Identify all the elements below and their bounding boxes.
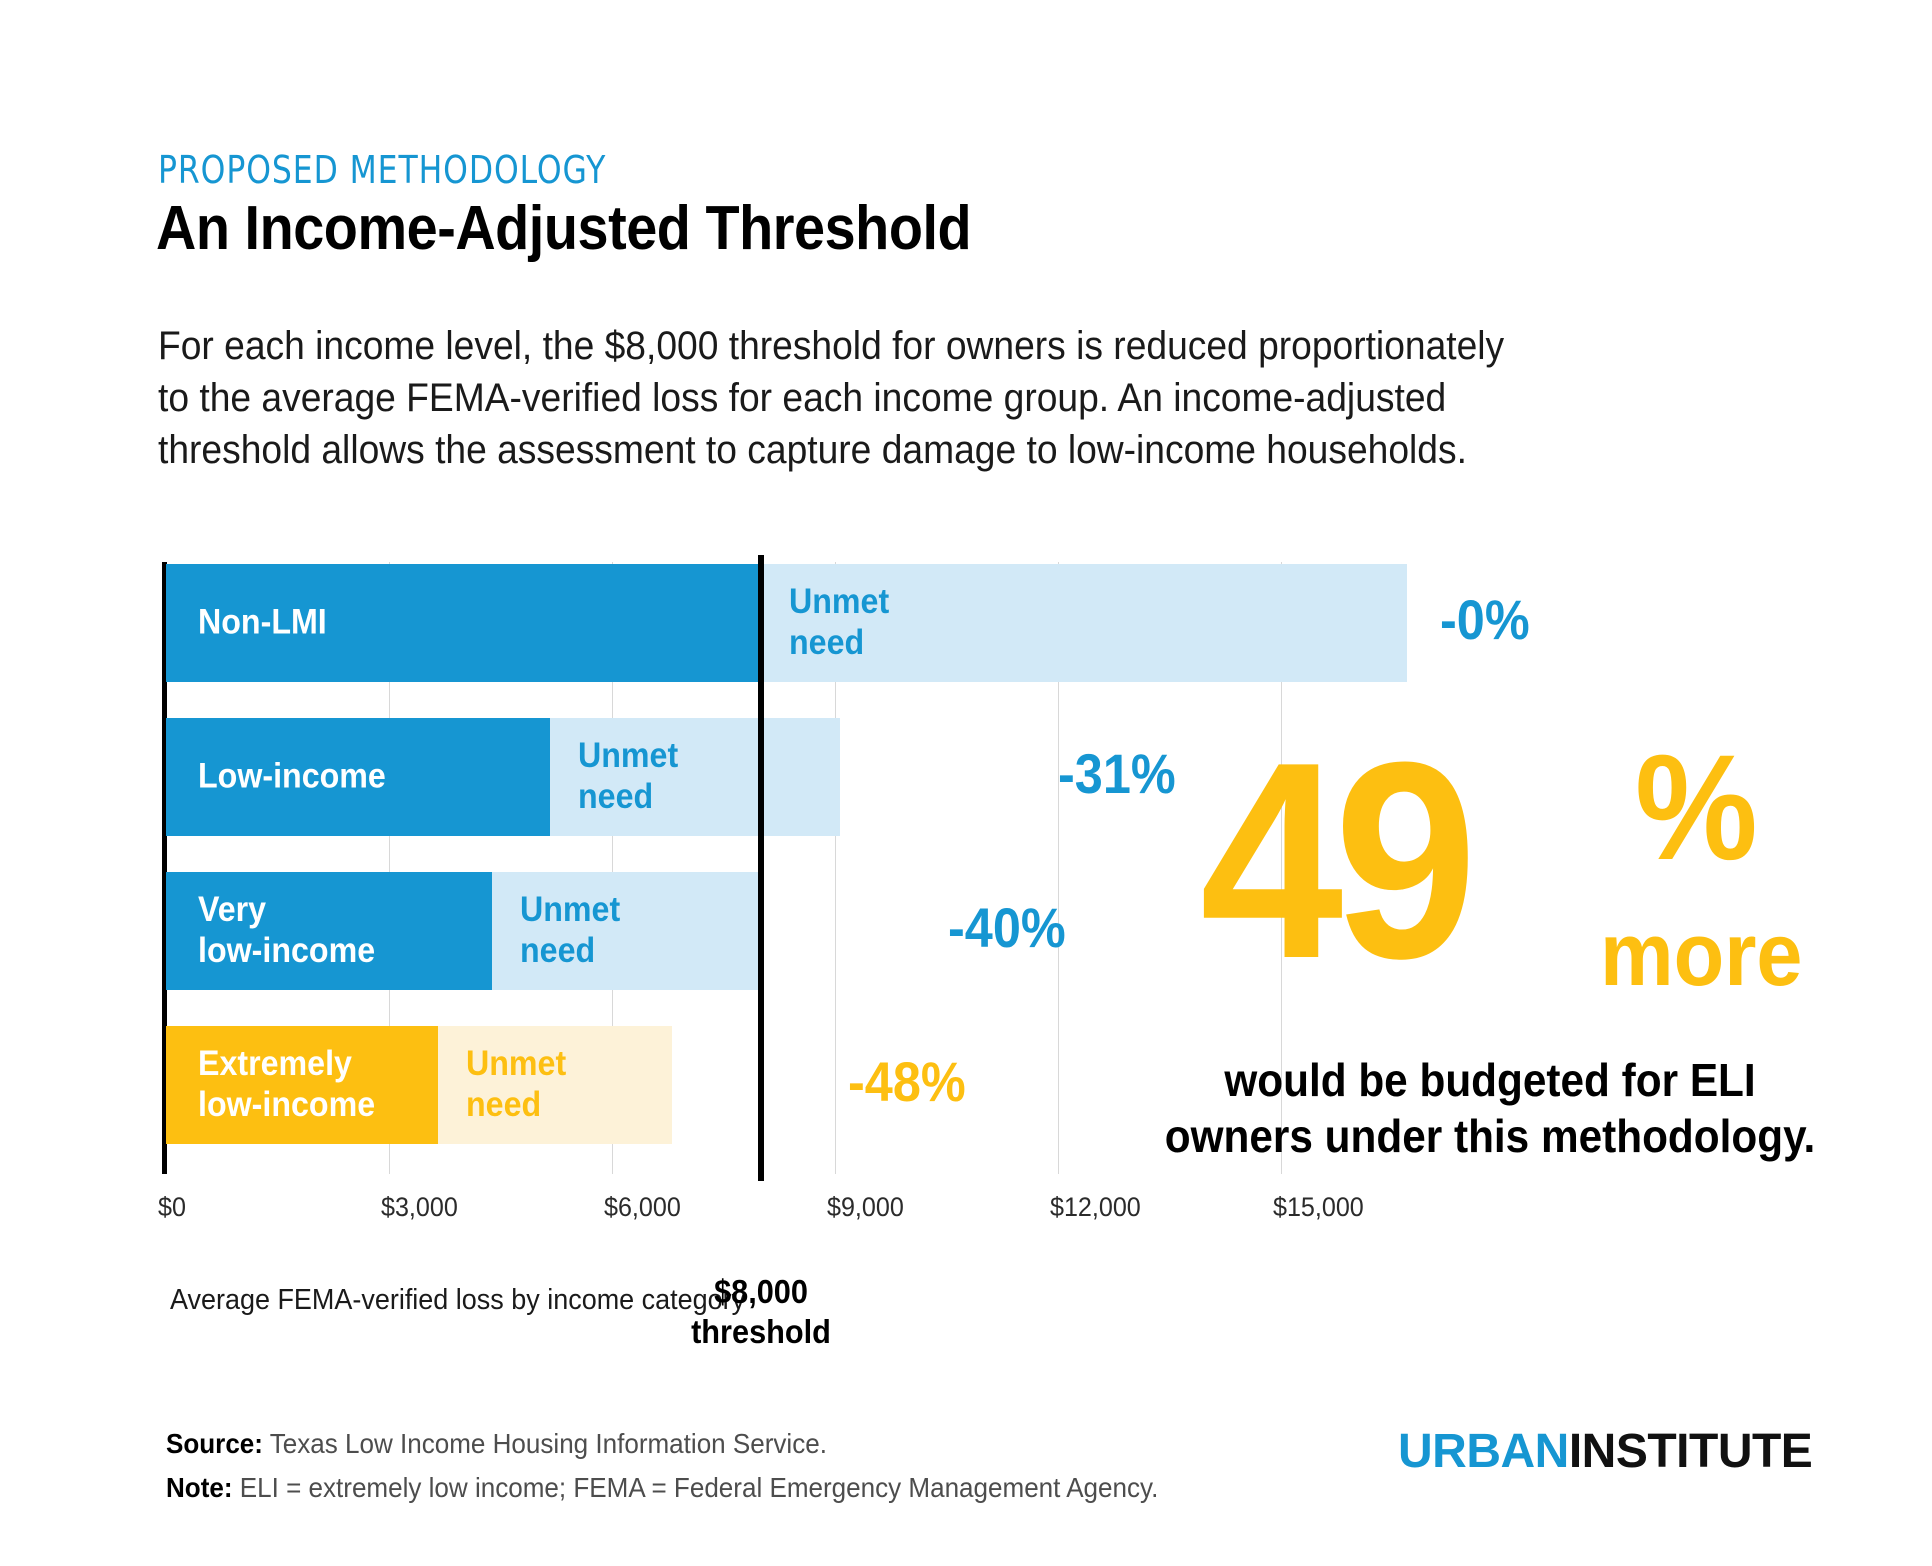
source-line: Source: Texas Low Income Housing Informa… [166,1428,827,1460]
x-tick-label: $15,000 [1273,1192,1364,1223]
bar-unmet-need-label: Unmet need [466,1044,566,1126]
threshold-caption: $8,000 threshold [621,1272,900,1351]
bar-segment-verified-loss: Non-LMI [166,564,761,682]
bar-row: Non-LMIUnmet need [166,564,1407,682]
bar-segment-verified-loss: Low-income [166,718,550,836]
note-text: ELI = extremely low income; FEMA = Feder… [240,1472,1159,1503]
bar-segment-verified-loss: Extremely low-income [166,1026,438,1144]
x-tick-label: $12,000 [1050,1192,1141,1223]
callout-number: 49 [1200,752,1468,970]
bar-category-label: Non-LMI [198,603,327,644]
source-label: Source: [166,1428,263,1459]
threshold-line [758,555,764,1181]
bar-reduction-label: -31% [1058,741,1176,806]
callout-more-label: more [1600,910,1802,1000]
bar-unmet-need-label: Unmet need [789,582,889,664]
callout-subtext: would be budgeted for ELI owners under t… [1140,1052,1839,1164]
logo-urban: URBAN [1398,1425,1569,1478]
bar-segment-verified-loss: Very low-income [166,872,492,990]
source-text: Texas Low Income Housing Information Ser… [270,1428,827,1459]
bar-category-label: Very low-income [198,890,375,972]
bar-row: Very low-incomeUnmet need [166,872,761,990]
bar-category-label: Extremely low-income [198,1044,375,1126]
callout-percent-sign: % [1635,732,1758,882]
note-label: Note: [166,1472,233,1503]
bar-category-label: Low-income [198,757,386,798]
x-tick-label: $6,000 [604,1192,681,1223]
x-tick-label: $0 [158,1192,186,1223]
infographic-page: PROPOSED METHODOLOGY An Income-Adjusted … [0,0,1932,1566]
note-line: Note: ELI = extremely low income; FEMA =… [166,1472,1158,1504]
x-tick-label: $3,000 [381,1192,458,1223]
logo-institute: INSTITUTE [1569,1425,1813,1478]
bar-unmet-need-label: Unmet need [578,736,678,818]
bar-reduction-label: -48% [848,1049,966,1114]
x-tick-label: $9,000 [827,1192,904,1223]
bar-reduction-label: -40% [948,895,1066,960]
bar-row: Low-incomeUnmet need [166,718,840,836]
bar-unmet-need-label: Unmet need [520,890,620,972]
bar-reduction-label: -0% [1440,587,1530,652]
bar-row: Extremely low-incomeUnmet need [166,1026,672,1144]
urban-institute-logo: URBANINSTITUTE [1398,1424,1812,1479]
